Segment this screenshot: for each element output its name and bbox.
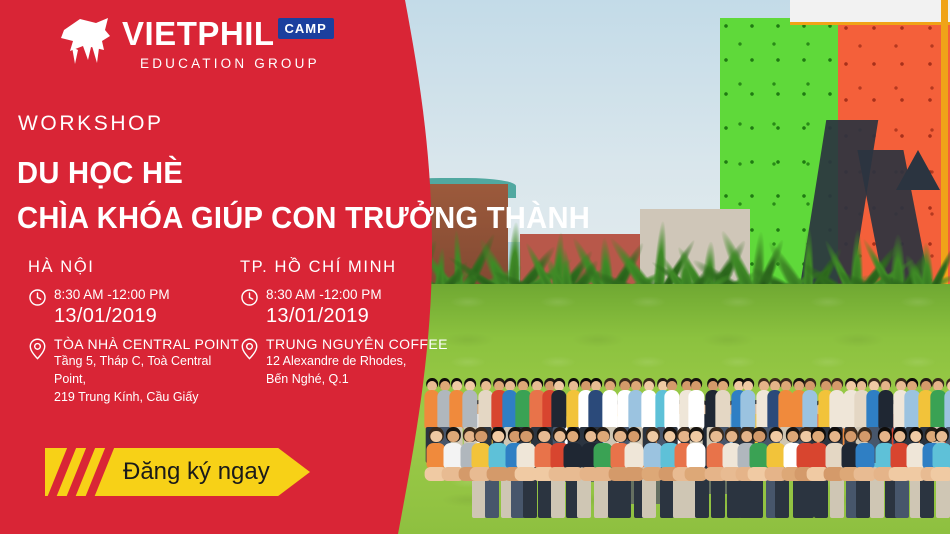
person-torso xyxy=(715,390,730,429)
venue-address-line-1: Tầng 5, Tháp C, Toà Central Point, xyxy=(54,352,239,388)
brand-tagline: EDUCATION GROUP xyxy=(122,56,334,71)
person-head xyxy=(481,381,491,391)
venue-date: 13/01/2019 xyxy=(266,305,440,328)
venue-address-line-2: 219 Trung Kính, Cầu Giấy xyxy=(54,388,239,406)
person-head xyxy=(805,381,815,391)
venue-place-name: TRUNG NGUYÊN COFFEE xyxy=(266,336,448,352)
clock-icon xyxy=(28,286,54,307)
venue-date: 13/01/2019 xyxy=(54,305,233,328)
person-torso xyxy=(944,390,950,429)
person-head xyxy=(907,381,917,391)
venue-place-row: TÒA NHÀ CENTRAL POINT Tầng 5, Tháp C, To… xyxy=(28,336,233,406)
wall-top-frame xyxy=(790,0,950,25)
person-head xyxy=(743,381,753,391)
person-torso xyxy=(802,390,817,429)
person-torso xyxy=(687,443,706,468)
venue-address-line-2: Bến Nghé, Q.1 xyxy=(266,370,448,388)
map-pin-icon xyxy=(240,336,266,360)
person-seated xyxy=(931,427,950,486)
venue-city-name: HÀ NỘI xyxy=(28,258,233,277)
register-now-button[interactable]: Đăng ký ngay xyxy=(45,448,310,496)
person-head xyxy=(881,381,891,391)
person-head xyxy=(667,381,677,391)
venue-hanoi: HÀ NỘI 8:30 AM -12:00 PM 13/01/2019 xyxy=(28,258,233,414)
person-head xyxy=(554,381,564,391)
person-head xyxy=(591,381,601,391)
torn-paper-mark-icon xyxy=(58,14,116,66)
person-head xyxy=(933,381,943,391)
person-head xyxy=(605,381,615,391)
venue-place-row: TRUNG NGUYÊN COFFEE 12 Alexandre de Rhod… xyxy=(240,336,440,388)
person-torso xyxy=(689,390,704,429)
venue-time: 8:30 AM -12:00 PM xyxy=(266,286,440,304)
clock-icon xyxy=(240,286,266,307)
headline-line-2: CHÌA KHÓA GIÚP CON TRƯỞNG THÀNH xyxy=(17,200,590,236)
person-torso xyxy=(933,443,950,468)
venue-address-line-1: 12 Alexandre de Rhodes, xyxy=(266,352,448,370)
venue-place-name: TÒA NHÀ CENTRAL POINT xyxy=(54,336,239,352)
person-head xyxy=(691,381,701,391)
person-head xyxy=(832,381,842,391)
person-crossed-legs xyxy=(931,467,950,481)
venue-time-row: 8:30 AM -12:00 PM 13/01/2019 xyxy=(240,286,440,328)
wall-triangle xyxy=(896,150,940,190)
person-head xyxy=(644,381,654,391)
person-torso xyxy=(664,390,679,429)
person-head xyxy=(718,381,728,391)
person-head xyxy=(465,381,475,391)
person-torso xyxy=(855,443,874,468)
venue-city-name: TP. HỒ CHÍ MINH xyxy=(240,258,440,277)
promo-banner: VIETPHIL CAMP EDUCATION GROUP WORKSHOP D… xyxy=(0,0,950,534)
headline-line-1: DU HỌC HÈ xyxy=(17,155,183,191)
person-head xyxy=(519,381,529,391)
eyebrow-workshop: WORKSHOP xyxy=(18,112,164,136)
cta-label: Đăng ký ngay xyxy=(123,448,270,496)
venue-time-row: 8:30 AM -12:00 PM 13/01/2019 xyxy=(28,286,233,328)
brand-logo[interactable]: VIETPHIL CAMP EDUCATION GROUP xyxy=(58,14,334,71)
person-torso xyxy=(462,390,477,429)
venue-ho-chi-minh: TP. HỒ CHÍ MINH 8:30 AM -12:00 PM 13/01/… xyxy=(240,258,440,396)
map-pin-icon xyxy=(28,336,54,360)
venue-time: 8:30 AM -12:00 PM xyxy=(54,286,233,304)
person-torso xyxy=(878,390,893,429)
person-torso xyxy=(740,390,755,429)
brand-name: VIETPHIL xyxy=(122,17,275,50)
brand-badge: CAMP xyxy=(278,18,334,39)
